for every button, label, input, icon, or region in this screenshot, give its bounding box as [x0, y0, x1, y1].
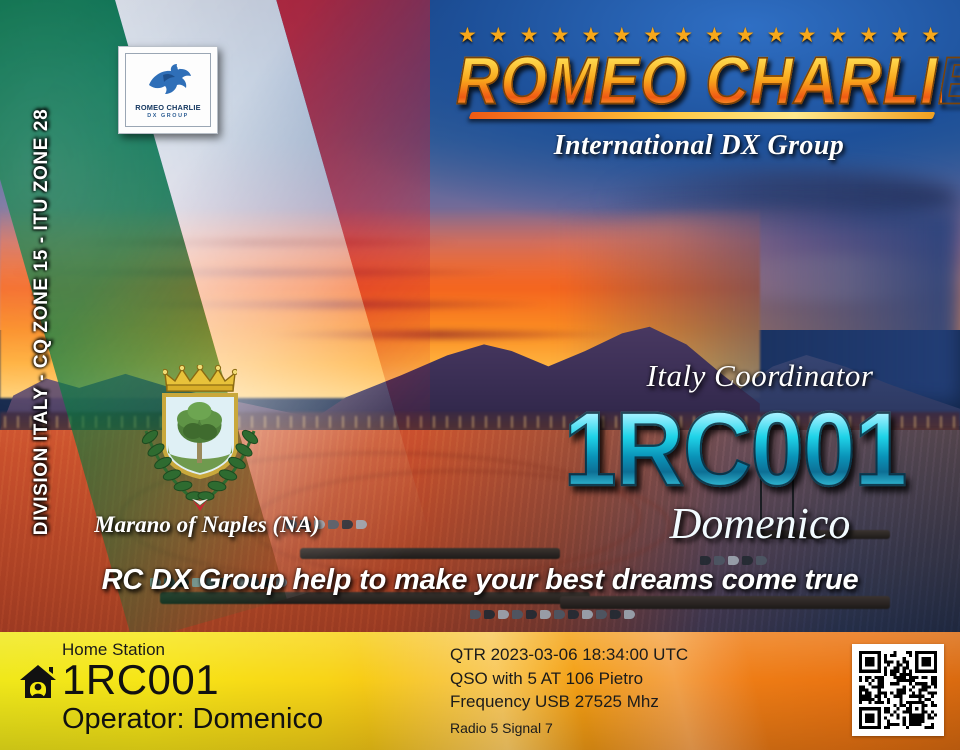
operator-name: Domenico [560, 498, 960, 549]
club-logo-inner: ROMEO CHARLIE DX GROUP [125, 53, 211, 127]
side-zone-banner: DIVISION ITALY - CQ ZONE 15 - ITU ZONE 2… [20, 22, 64, 622]
location-caption: Marano of Naples (NA) [72, 512, 342, 538]
callsign-headline: 1RC001 [510, 395, 960, 505]
qso-qtr: QTR 2023-03-06 18:34:00 UTC [450, 643, 688, 667]
pier [560, 596, 890, 609]
club-subtitle: International DX Group [456, 130, 942, 162]
dove-icon [143, 61, 193, 102]
tagline: RC DX Group help to make your best dream… [0, 564, 960, 597]
club-logo-subtitle: DX GROUP [147, 113, 189, 119]
title-underline [469, 112, 936, 119]
crown-icon [163, 365, 237, 393]
coat-of-arms [120, 365, 280, 515]
home-icon [18, 662, 58, 702]
side-zone-text: DIVISION ITALY - CQ ZONE 15 - ITU ZONE 2… [31, 109, 53, 536]
role-title: Italy Coordinator [560, 358, 960, 394]
club-logo-badge: ROMEO CHARLIE DX GROUP [118, 46, 218, 134]
club-logo-name: ROMEO CHARLIE [135, 103, 200, 112]
footer-operator-line: Operator: Domenico [62, 703, 323, 735]
footer-callsign: 1RC001 [62, 657, 219, 703]
qso-with: QSO with 5 AT 106 Pietro [450, 667, 688, 691]
qso-report: Radio 5 Signal 7 [450, 717, 688, 740]
boat-row [470, 610, 635, 619]
qso-details: QTR 2023-03-06 18:34:00 UTC QSO with 5 A… [450, 643, 688, 740]
qso-frequency: Frequency USB 27525 Mhz [450, 690, 688, 714]
qsl-card: DIVISION ITALY - CQ ZONE 15 - ITU ZONE 2… [0, 0, 960, 750]
laurel-wreath-icon [130, 427, 270, 513]
club-title: ROMEO CHARLIE [456, 44, 942, 118]
qr-code-icon[interactable] [852, 644, 944, 736]
